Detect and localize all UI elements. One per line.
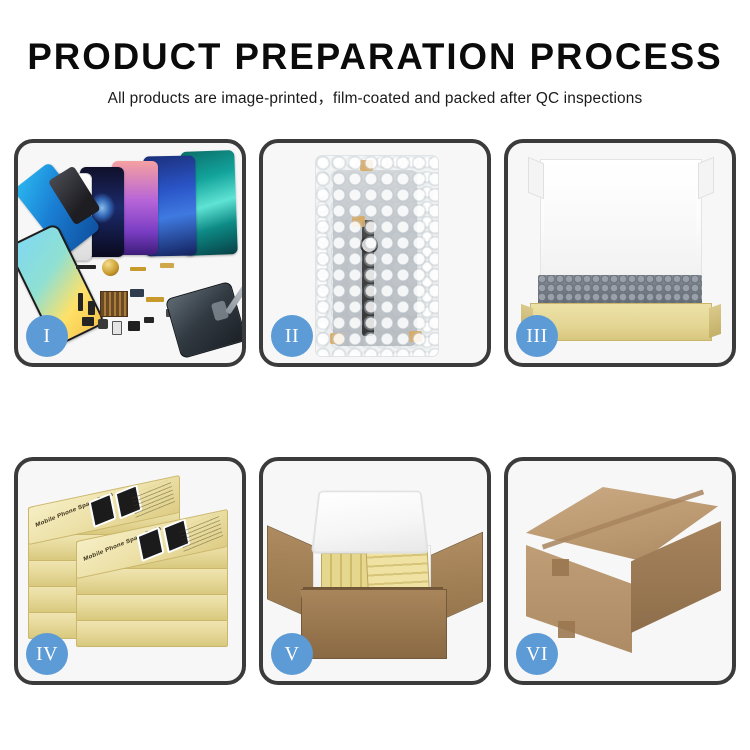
vibration-coil-part xyxy=(102,259,119,276)
taptic-engine-part xyxy=(128,321,140,331)
spare-parts-group xyxy=(76,257,242,353)
small-cable-part xyxy=(78,293,83,311)
box-spec-lines xyxy=(131,479,175,518)
speaker-part xyxy=(82,317,94,326)
process-step-4[interactable]: Mobile Phone Spare Parts Mobile Phone Sp… xyxy=(14,457,246,685)
gold-contact-part xyxy=(160,263,174,268)
bracket-part xyxy=(88,301,95,315)
step-badge-4: IV xyxy=(26,633,68,675)
flex-cable-part xyxy=(76,265,96,269)
phone-back-housing xyxy=(165,281,242,359)
bubble-wrap-bag xyxy=(315,155,439,357)
process-step-2[interactable]: II xyxy=(259,139,491,367)
step-badge-3: III xyxy=(516,315,558,357)
tape-tab-top xyxy=(360,160,373,171)
antenna-flex-part xyxy=(146,297,164,302)
tape-tab-bottom-left xyxy=(330,333,343,344)
button-part xyxy=(98,319,108,329)
packed-screen-assembly xyxy=(333,170,417,346)
stacked-box xyxy=(76,619,228,647)
process-step-1[interactable]: I xyxy=(14,139,246,367)
box-spec-lines xyxy=(179,513,223,552)
page-subtitle: All products are image-printed，film-coat… xyxy=(0,86,750,108)
camera-module-part xyxy=(130,289,144,297)
process-steps-grid: I II III xyxy=(14,139,736,685)
carton-tab-lower xyxy=(558,621,575,638)
page-header: PRODUCT PREPARATION PROCESS All products… xyxy=(0,0,750,108)
step-badge-2: II xyxy=(271,315,313,357)
screen-connector xyxy=(360,236,378,254)
foam-box-lid xyxy=(311,491,429,554)
tape-tab-middle xyxy=(352,216,365,227)
carton-tab-upper xyxy=(552,559,569,576)
step-badge-6: VI xyxy=(516,633,558,675)
box-window-left xyxy=(137,527,165,563)
screw-strip-part xyxy=(144,317,154,323)
process-step-3[interactable]: III xyxy=(504,139,736,367)
process-step-5[interactable]: V xyxy=(259,457,491,685)
process-step-6[interactable]: VI xyxy=(504,457,736,685)
tape-tab-bottom-right xyxy=(409,331,422,342)
step-badge-5: V xyxy=(271,633,313,675)
step-badge-1: I xyxy=(26,315,68,357)
box-window-left xyxy=(89,493,117,529)
stacked-box xyxy=(76,593,228,621)
sim-tray-part xyxy=(112,321,122,335)
carton-body xyxy=(301,589,447,659)
foam-sheet xyxy=(544,187,696,269)
gold-connector-part xyxy=(130,267,146,271)
chip-array-part xyxy=(100,291,128,317)
page-title: PRODUCT PREPARATION PROCESS xyxy=(4,38,747,77)
